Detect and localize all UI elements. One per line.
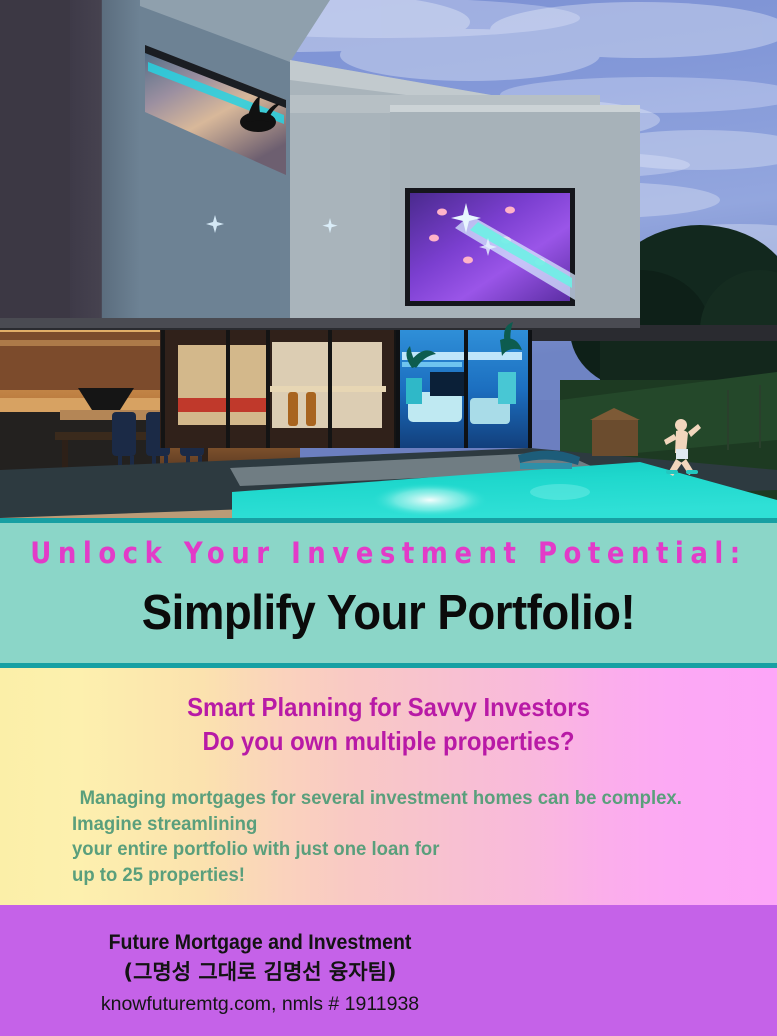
headline-band: Unlock Your Investment Potential: Simpli…: [0, 518, 777, 668]
flyer-poster: Unlock Your Investment Potential: Simpli…: [0, 0, 777, 1036]
kicker-text: Unlock Your Investment Potential:: [0, 537, 777, 571]
hero-photo-house-at-dusk: [0, 0, 777, 518]
paragraph-line-3: your entire portfolio with just one loan…: [72, 837, 699, 863]
company-name-korean: (그명성 그대로 김명선 융자팀): [0, 956, 520, 986]
body-band: Smart Planning for Savvy Investors Do yo…: [0, 668, 777, 905]
pool-light: [372, 483, 488, 517]
paragraph-line-4: up to 25 properties!: [72, 863, 699, 889]
footer-band: Future Mortgage and Investment (그명성 그대로 …: [0, 905, 777, 1036]
subheading-secondary: Do you own multiple properties?: [31, 726, 746, 757]
subheading-primary: Smart Planning for Savvy Investors: [31, 692, 746, 723]
paragraph-line-2: Imagine streamlining: [72, 812, 699, 838]
body-paragraph: Managing mortgages for several investmen…: [72, 786, 699, 888]
contact-line[interactable]: knowfuturemtg.com, nmls # 1911938: [0, 993, 520, 1016]
tv: [430, 372, 464, 396]
main-headline: Simplify Your Portfolio!: [27, 585, 750, 641]
kitchen-interior: [178, 345, 268, 425]
garden-shed: [592, 420, 638, 456]
paragraph-line-1: Managing mortgages for several investmen…: [72, 786, 699, 812]
company-name: Future Mortgage and Investment: [18, 931, 502, 955]
left-dark-wall: [0, 0, 70, 330]
hero-illustration: [0, 0, 777, 518]
